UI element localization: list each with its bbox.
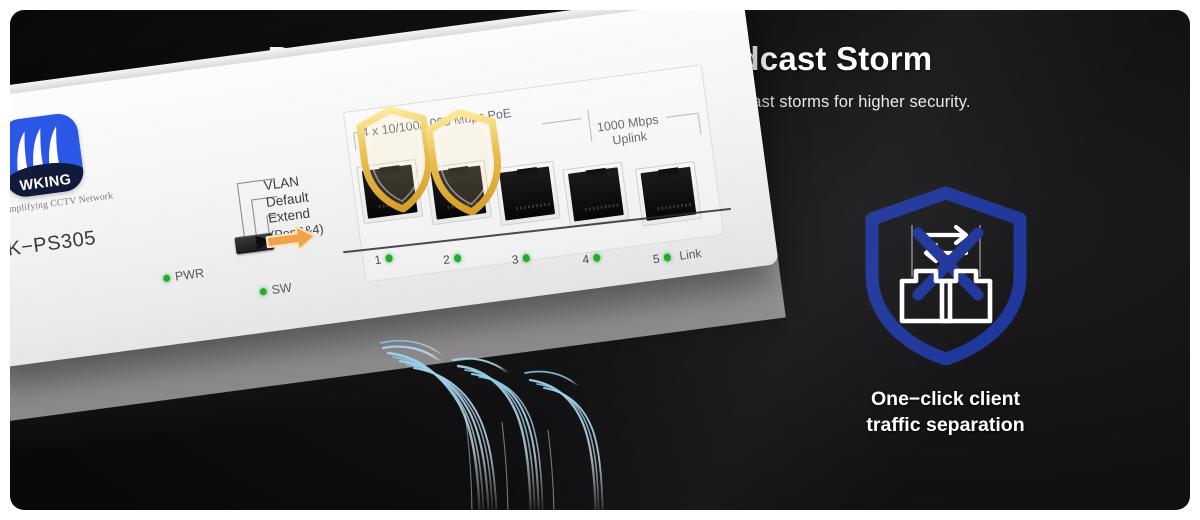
rj45-pins: [585, 204, 619, 211]
port-indicator-4: 4: [581, 250, 600, 266]
port-2-led-icon: [453, 254, 461, 263]
feature-caption-line2: traffic separation: [803, 412, 1088, 438]
port-number-3: 3: [511, 252, 519, 267]
feature-highlight: One−click client traffic separation: [803, 185, 1088, 438]
port-3-led-icon: [522, 254, 530, 263]
rj45-port-4[interactable]: [562, 162, 629, 227]
dark-panel: Port Isolation to Prevent Broadcast Stor…: [10, 10, 1190, 510]
promo-banner: Port Isolation to Prevent Broadcast Stor…: [0, 0, 1200, 520]
feature-caption: One−click client traffic separation: [803, 386, 1088, 438]
port-5-led-icon: [663, 253, 671, 262]
sw-label: SW: [271, 281, 293, 298]
indicator-pwr: PWR: [162, 266, 205, 285]
feature-caption-line1: One−click client: [803, 386, 1088, 412]
pwr-label: PWR: [174, 266, 205, 284]
gold-shield-icon-right: [420, 104, 512, 221]
port-number-1: 1: [374, 252, 382, 267]
rj45-pins: [516, 203, 550, 210]
rj45-pins: [657, 203, 691, 210]
port-indicator-5: 5 Link: [652, 246, 702, 266]
brand-tagline: Simplifying CCTV Network: [10, 194, 85, 216]
rj45-cavity: [568, 167, 624, 221]
pointer-arrow-icon: [259, 221, 318, 258]
brand-logo: WKING Simplifying CCTV Network: [10, 111, 91, 215]
sw-led-icon: [259, 287, 267, 295]
link-label: Link: [679, 246, 703, 263]
port-4-led-icon: [592, 253, 600, 262]
port-number-4: 4: [581, 252, 589, 267]
port-indicator-1: 1: [374, 251, 393, 267]
port-number-2: 2: [442, 252, 450, 267]
port-1-led-icon: [385, 254, 393, 263]
rj45-tab: [517, 167, 538, 182]
port-indicator-2: 2: [442, 251, 461, 267]
shield-port-isolation-icon: [860, 185, 1032, 365]
rj45-tab: [658, 167, 679, 182]
logo-mark: WKING: [10, 112, 86, 200]
pwr-led-icon: [163, 274, 171, 282]
port-number-5: 5: [652, 252, 660, 267]
network-switch-device: WKING Simplifying CCTV Network WK−PS305 …: [10, 10, 820, 510]
device-model-label: WK−PS305: [10, 227, 98, 264]
rj45-tab: [586, 168, 607, 183]
indicator-sw: SW: [259, 281, 293, 299]
port-indicator-3: 3: [511, 251, 530, 267]
